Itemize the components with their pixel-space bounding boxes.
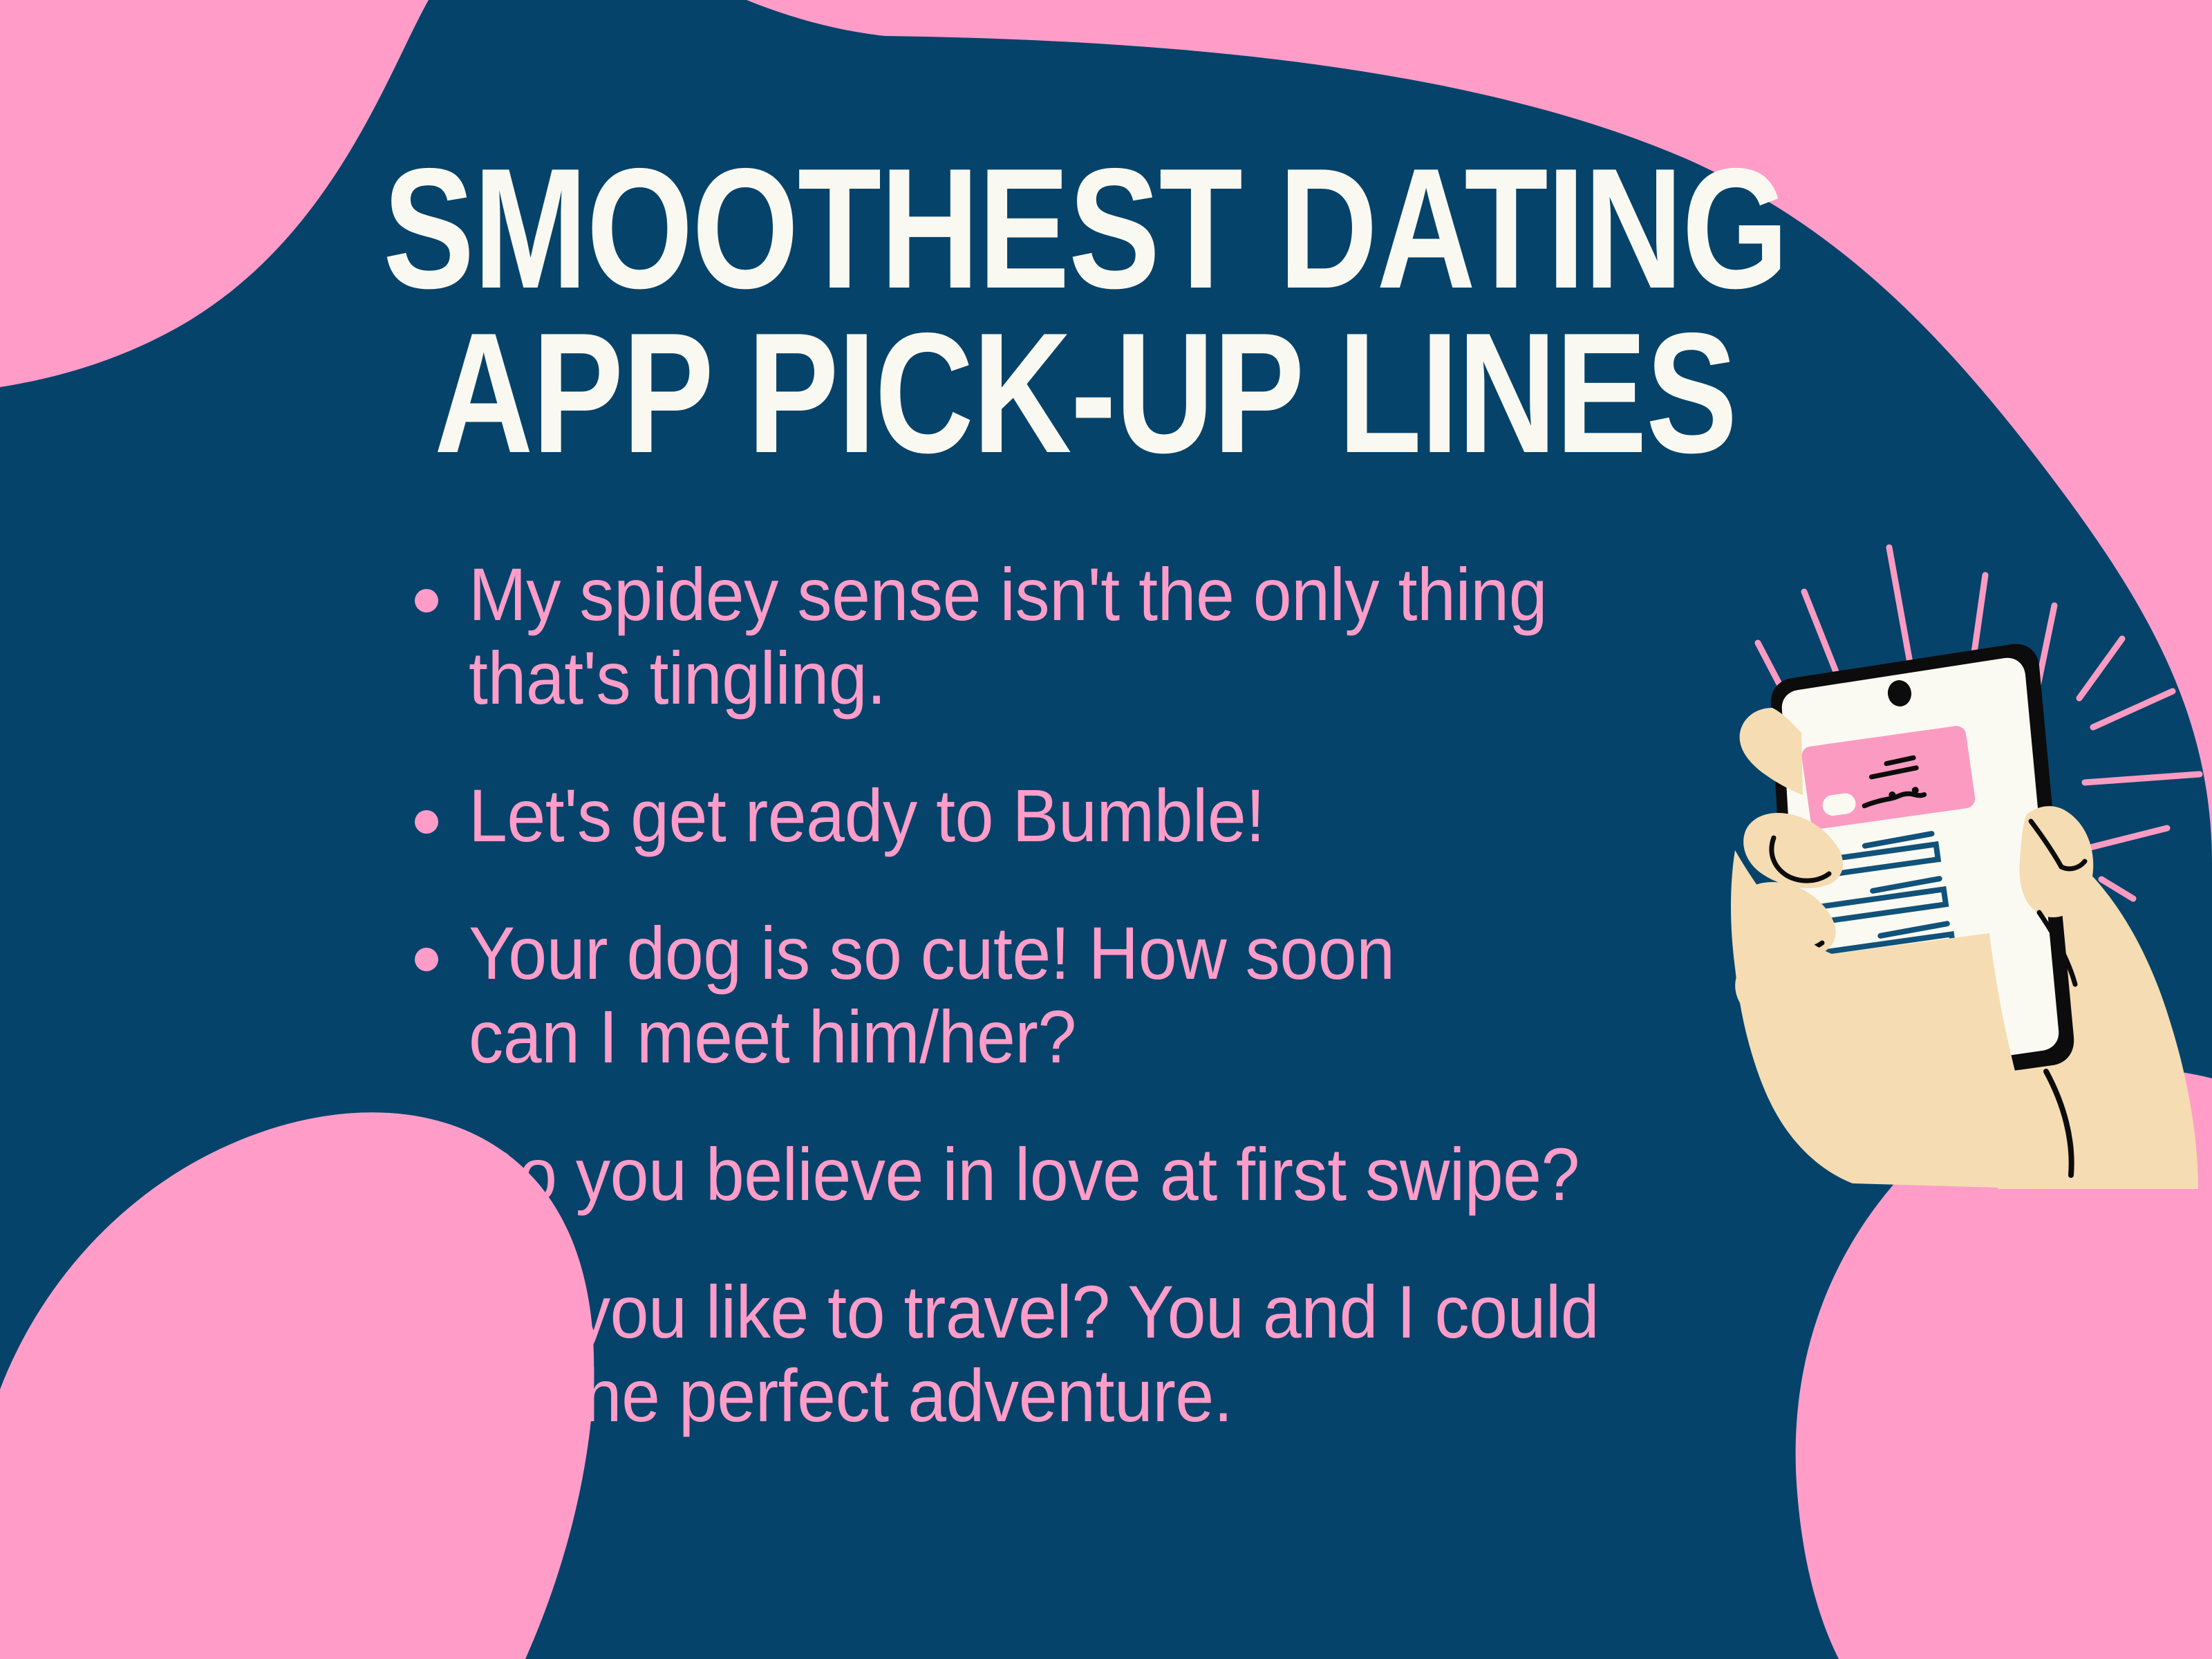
hand-holding-phone-illustration — [1714, 525, 2212, 1189]
title-line-1: SMOOTHEST DATING — [383, 144, 1788, 312]
list-item: Do you like to travel? You and I could b… — [415, 1271, 1811, 1438]
list-item-label: Let's get ready to Bumble! — [469, 774, 1265, 858]
bullet-dot-icon — [415, 589, 438, 612]
bullet-dot-icon — [415, 810, 438, 834]
list-item-label: Your dog is so cute! How soon can I meet… — [469, 912, 1395, 1079]
list-item-label: Do you believe in love at first swipe? — [469, 1133, 1580, 1217]
list-item: Do you believe in love at first swipe? — [415, 1133, 1811, 1217]
title-line-2: APP PICK-UP LINES — [383, 308, 1788, 477]
list-item-label: My spidey sense isn't the only thing tha… — [469, 553, 1547, 720]
bullet-dot-icon — [415, 948, 438, 971]
pickup-lines-list: My spidey sense isn't the only thing tha… — [415, 553, 1811, 1438]
bullet-dot-icon — [415, 1306, 438, 1330]
list-item-label: Do you like to travel? You and I could b… — [469, 1271, 1599, 1438]
page-title: SMOOTHEST DATING APP PICK-UP LINES — [207, 144, 1963, 478]
list-item: Let's get ready to Bumble! — [415, 774, 1811, 858]
poster-content: SMOOTHEST DATING APP PICK-UP LINES My sp… — [0, 0, 2212, 1659]
list-item: My spidey sense isn't the only thing tha… — [415, 553, 1811, 720]
bullet-dot-icon — [415, 1169, 438, 1192]
list-item: Your dog is so cute! How soon can I meet… — [415, 912, 1811, 1079]
poster-canvas: SMOOTHEST DATING APP PICK-UP LINES My sp… — [0, 0, 2212, 1659]
